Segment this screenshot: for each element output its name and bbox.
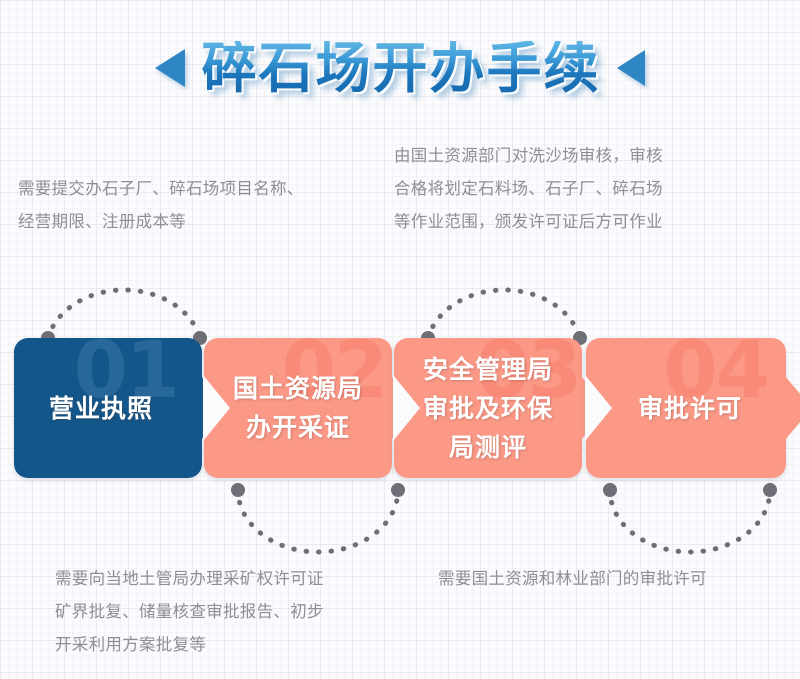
- flow-step-1[interactable]: 01 营业执照: [14, 338, 202, 478]
- right-triangle-icon: [617, 50, 645, 86]
- step-4-chevron-icon: [785, 376, 800, 440]
- connector-arc-bottom-right: [600, 482, 780, 562]
- page-title-row: 碎石场开办手续: [0, 18, 800, 118]
- step-2-notch: [203, 375, 230, 441]
- note-top-right: 由国土资源部门对洗沙场审核，审核 合格将划定石料场、石子厂、碎石场 等作业范围，…: [394, 139, 774, 238]
- step-4-label: 审批许可: [638, 389, 742, 428]
- step-1-label: 营业执照: [49, 389, 153, 428]
- left-triangle-icon: [155, 49, 185, 87]
- flow-step-4[interactable]: 04 审批许可: [586, 338, 786, 478]
- note-bottom-left: 需要向当地土管局办理采矿权许可证 矿界批复、储量核查审批报告、初步 开采利用方案…: [55, 562, 430, 661]
- flow-step-3[interactable]: 03 安全管理局 审批及环保 局测评: [394, 338, 582, 478]
- page-title: 碎石场开办手续: [201, 41, 600, 96]
- step-3-notch: [393, 375, 420, 441]
- flow-step-2[interactable]: 02 国土资源局 办开采证: [204, 338, 392, 478]
- note-top-left: 需要提交办石子厂、碎石场项目名称、 经营期限、注册成本等: [18, 172, 388, 238]
- connector-arc-bottom-left: [228, 482, 408, 562]
- step-4-notch: [585, 375, 612, 441]
- note-bottom-right: 需要国土资源和林业部门的审批许可: [438, 562, 800, 595]
- step-3-label: 安全管理局 审批及环保 局测评: [423, 350, 553, 467]
- process-flow: 01 营业执照 02 国土资源局 办开采证 03 安全管理局 审批及环保 局测评…: [0, 338, 800, 478]
- step-2-label: 国土资源局 办开采证: [233, 369, 363, 447]
